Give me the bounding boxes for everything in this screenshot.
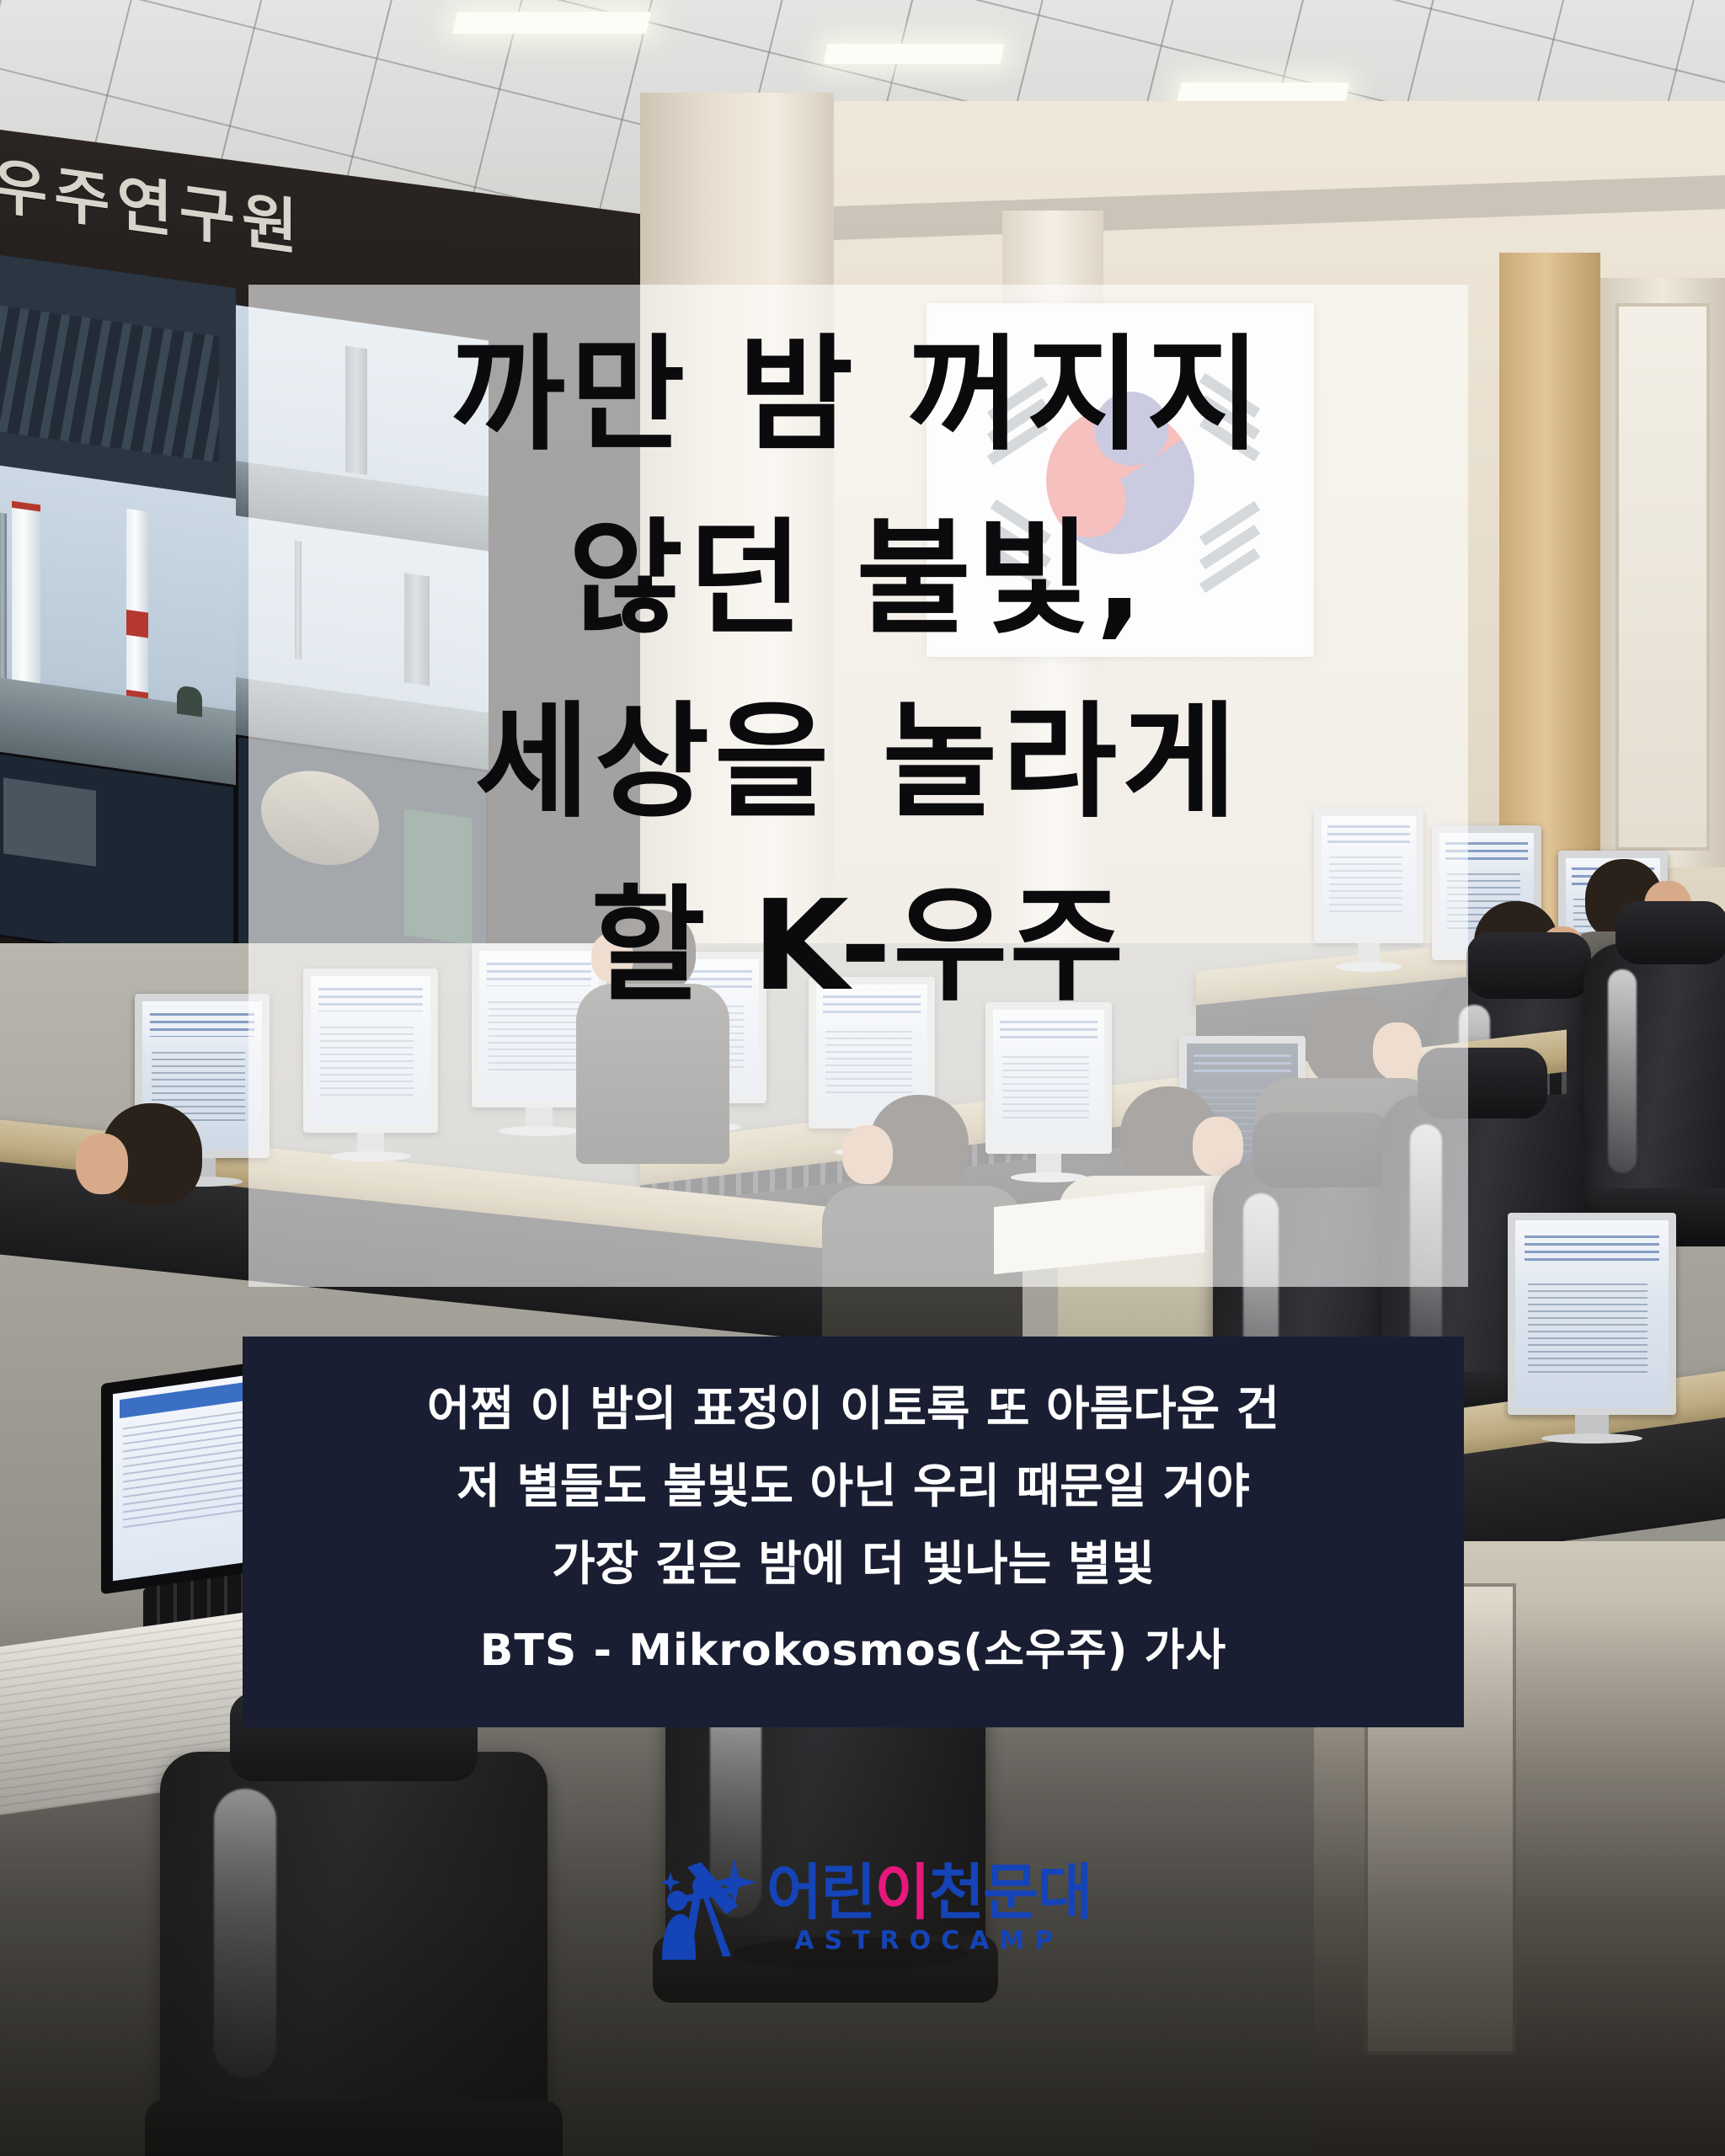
ceiling-light	[452, 12, 651, 34]
video-screen	[0, 253, 236, 499]
logo-ko-pink: 이	[874, 1857, 928, 1928]
lyric-line-1: 어쩜 이 밤의 표정이 이토록 또 아름다운 건	[427, 1371, 1279, 1449]
telescope-observer-icon	[657, 1852, 758, 1963]
door-panel	[1616, 303, 1710, 851]
lyrics-panel: 어쩜 이 밤의 표정이 이토록 또 아름다운 건 저 별들도 불빛도 아닌 우리…	[243, 1337, 1464, 1727]
logo-wordmark: 어린이천문대 ASTROCAMP	[766, 1860, 1091, 1956]
logo-korean-name: 어린이천문대	[766, 1860, 1091, 1924]
lyric-line-2: 저 별들도 불빛도 아닌 우리 때문일 거야	[457, 1449, 1249, 1526]
office-chair	[1583, 943, 1725, 1204]
headline-line-4: 할 K-우주	[248, 854, 1468, 1038]
poster-canvas: 우주연구원	[0, 0, 1725, 2156]
headline-line-2: 않던 불빛,	[248, 487, 1468, 670]
page-title: 까만 밤 꺼지지 않던 불빛, 세상을 놀라게 할 K-우주	[248, 303, 1468, 1038]
video-screen	[0, 750, 236, 970]
lyric-credit: BTS - Mikrokosmos(소우주) 가사	[480, 1612, 1226, 1689]
headline-line-3: 세상을 놀라게	[248, 670, 1468, 854]
ceiling-light	[823, 44, 1004, 64]
monitor	[1508, 1213, 1676, 1415]
video-screen	[0, 463, 236, 785]
logo-ko-part1: 어린	[766, 1857, 874, 1928]
lyric-line-3: 가장 깊은 밤에 더 빛나는 별빛	[552, 1526, 1155, 1604]
ceiling-light	[1178, 83, 1350, 101]
logo-english-name: ASTROCAMP	[766, 1926, 1091, 1956]
headline-line-1: 까만 밤 꺼지지	[248, 303, 1468, 487]
logo-ko-part2: 천문대	[929, 1857, 1092, 1928]
astrocamp-logo[interactable]: 어린이천문대 ASTROCAMP	[657, 1849, 1087, 1967]
